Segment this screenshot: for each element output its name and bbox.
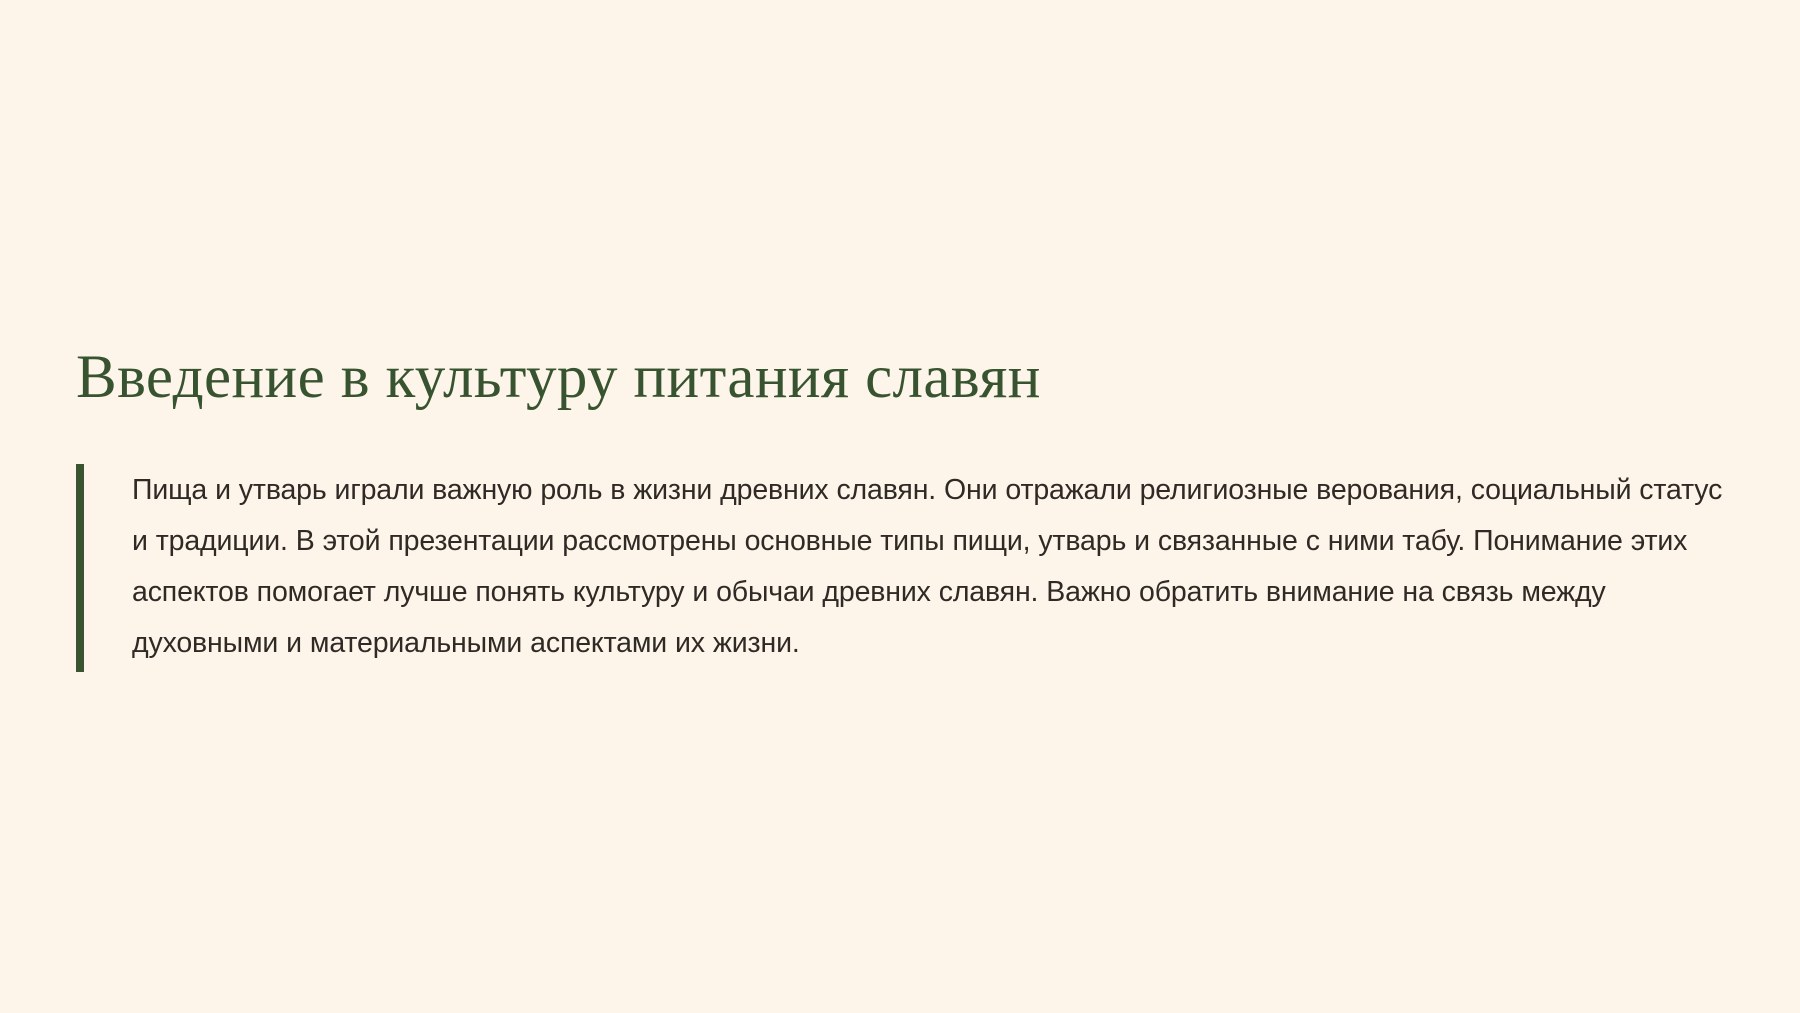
slide-content: Введение в культуру питания славян Пища …: [0, 0, 1800, 1013]
body-quote-block: Пища и утварь играли важную роль в жизни…: [76, 464, 1736, 672]
page-title: Введение в культуру питания славян: [76, 346, 1716, 410]
accent-bar: [76, 464, 84, 672]
body-paragraph: Пища и утварь играли важную роль в жизни…: [84, 464, 1736, 672]
presentation-slide: Введение в культуру питания славян Пища …: [0, 0, 1800, 1013]
